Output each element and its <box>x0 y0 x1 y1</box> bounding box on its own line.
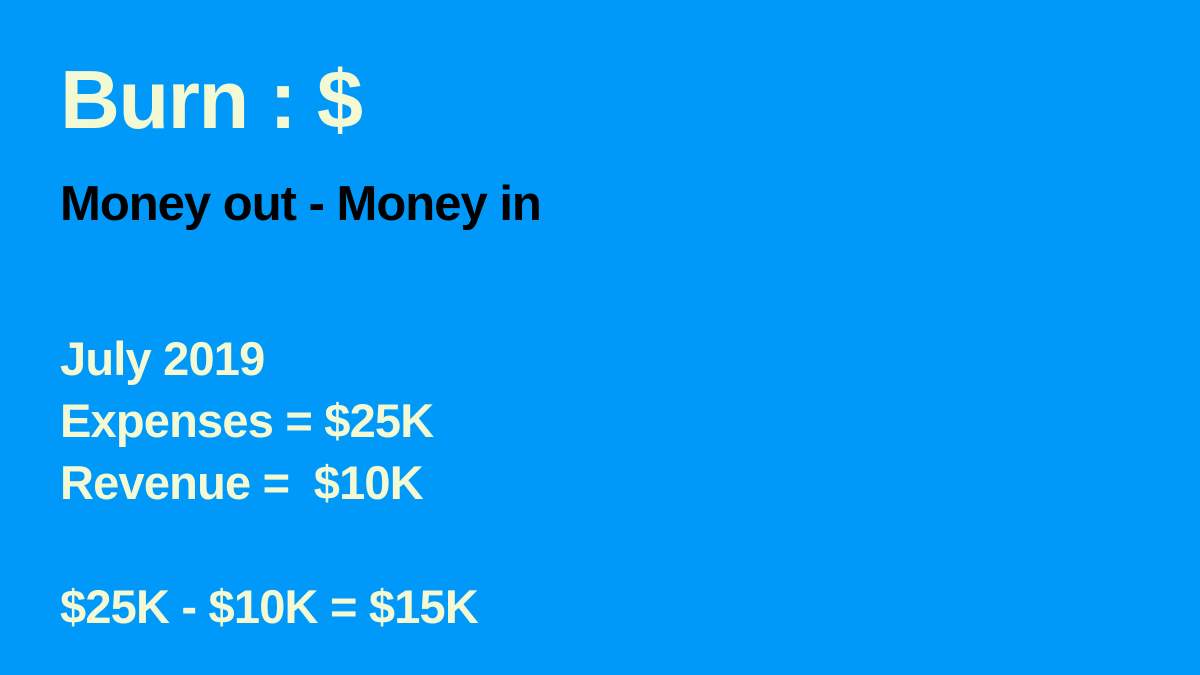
body-line-period: July 2019 <box>60 328 840 390</box>
slide-subtitle: Money out - Money in <box>60 176 541 232</box>
slide-title: Burn : $ <box>60 54 362 146</box>
body-line-spacer <box>60 514 840 576</box>
body-line-expenses: Expenses = $25K <box>60 390 840 452</box>
slide-canvas: Burn : $ Money out - Money in July 2019 … <box>0 0 1200 675</box>
slide-body-block: July 2019 Expenses = $25K Revenue = $10K… <box>60 328 840 638</box>
body-line-revenue: Revenue = $10K <box>60 452 840 514</box>
body-line-burn-equation: $25K - $10K = $15K <box>60 576 840 638</box>
